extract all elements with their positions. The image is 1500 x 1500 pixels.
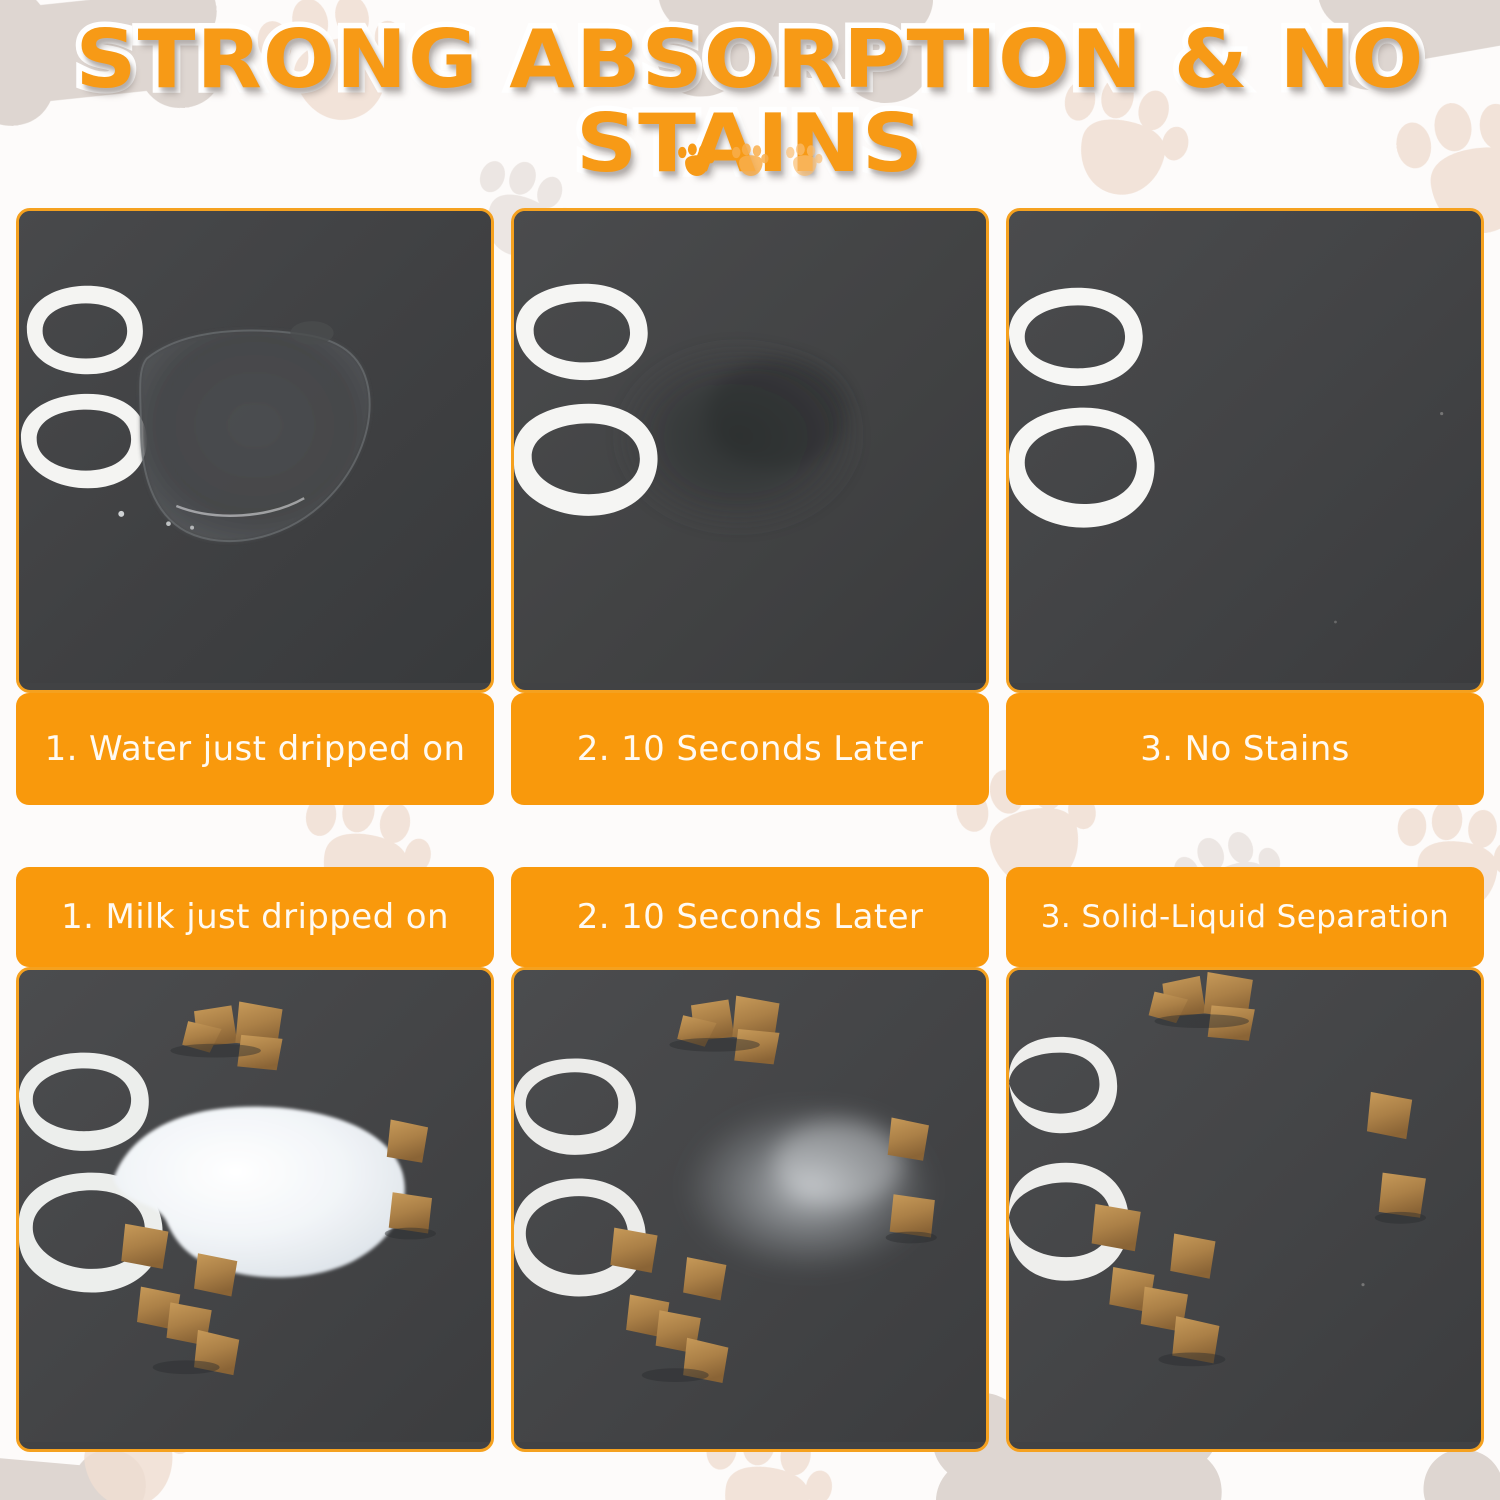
row-gap [511,805,989,867]
row-gap [16,805,494,867]
paw-print-icon [675,140,717,184]
label-milk-step-3-text: 3. Solid-Liquid Separation [1041,899,1449,935]
label-water-step-2-text: 2. 10 Seconds Later [577,729,924,769]
label-water-step-1-text: 1. Water just dripped on [45,729,466,769]
paw-print-icon [729,140,771,184]
comparison-grid: 1. Water just dripped on 2. 10 Seconds L… [16,208,1484,1484]
label-water-step-1: 1. Water just dripped on [16,693,494,805]
label-water-step-3-text: 3. No Stains [1140,729,1350,769]
photo-milk-separation [1006,967,1484,1452]
paw-print-icon [783,140,825,184]
photo-water-no-stains [1006,208,1484,693]
label-water-step-2: 2. 10 Seconds Later [511,693,989,805]
label-milk-step-2: 2. 10 Seconds Later [511,867,989,967]
label-milk-step-2-text: 2. 10 Seconds Later [577,897,924,937]
row-gap [1006,805,1484,867]
label-milk-step-1: 1. Milk just dripped on [16,867,494,967]
infographic-stage: STRONG ABSORPTION & NO STAINS [0,0,1500,1500]
label-milk-step-3: 3. Solid-Liquid Separation [1006,867,1484,967]
photo-milk-dripped [16,967,494,1452]
photo-water-dripped [16,208,494,693]
photo-water-10-seconds [511,208,989,693]
paw-divider [0,140,1500,184]
photo-milk-10-seconds [511,967,989,1452]
label-milk-step-1-text: 1. Milk just dripped on [61,897,449,937]
label-water-step-3: 3. No Stains [1006,693,1484,805]
